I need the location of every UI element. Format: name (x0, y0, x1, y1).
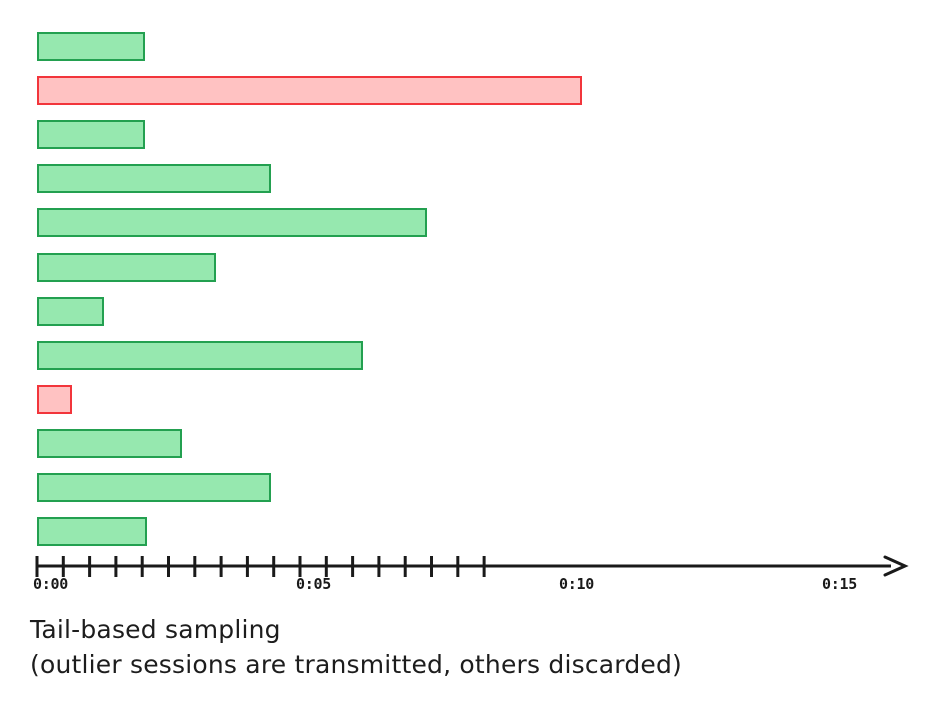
bars-layer (0, 0, 942, 545)
session-bar (37, 164, 271, 193)
session-bar (37, 297, 104, 326)
tail-based-sampling-chart: 0:000:050:100:15 Tail-based sampling (ou… (0, 0, 942, 716)
chart-caption: Tail-based sampling (outlier sessions ar… (30, 612, 910, 682)
session-bar (37, 253, 216, 282)
session-bar (37, 120, 145, 149)
axis-tick-label: 0:05 (296, 575, 331, 593)
axis-tick-label: 0:00 (33, 575, 68, 593)
axis-tick-label: 0:15 (822, 575, 857, 593)
axis-arrowhead (885, 557, 905, 575)
session-bar (37, 517, 147, 546)
caption-line-1: Tail-based sampling (30, 612, 910, 647)
caption-line-2: (outlier sessions are transmitted, other… (30, 647, 910, 682)
session-bar (37, 429, 182, 458)
session-bar (37, 341, 363, 370)
session-bar (37, 76, 582, 105)
session-bar (37, 208, 427, 237)
session-bar (37, 32, 145, 61)
session-bar (37, 385, 72, 414)
axis-tick-label: 0:10 (559, 575, 594, 593)
session-bar (37, 473, 271, 502)
